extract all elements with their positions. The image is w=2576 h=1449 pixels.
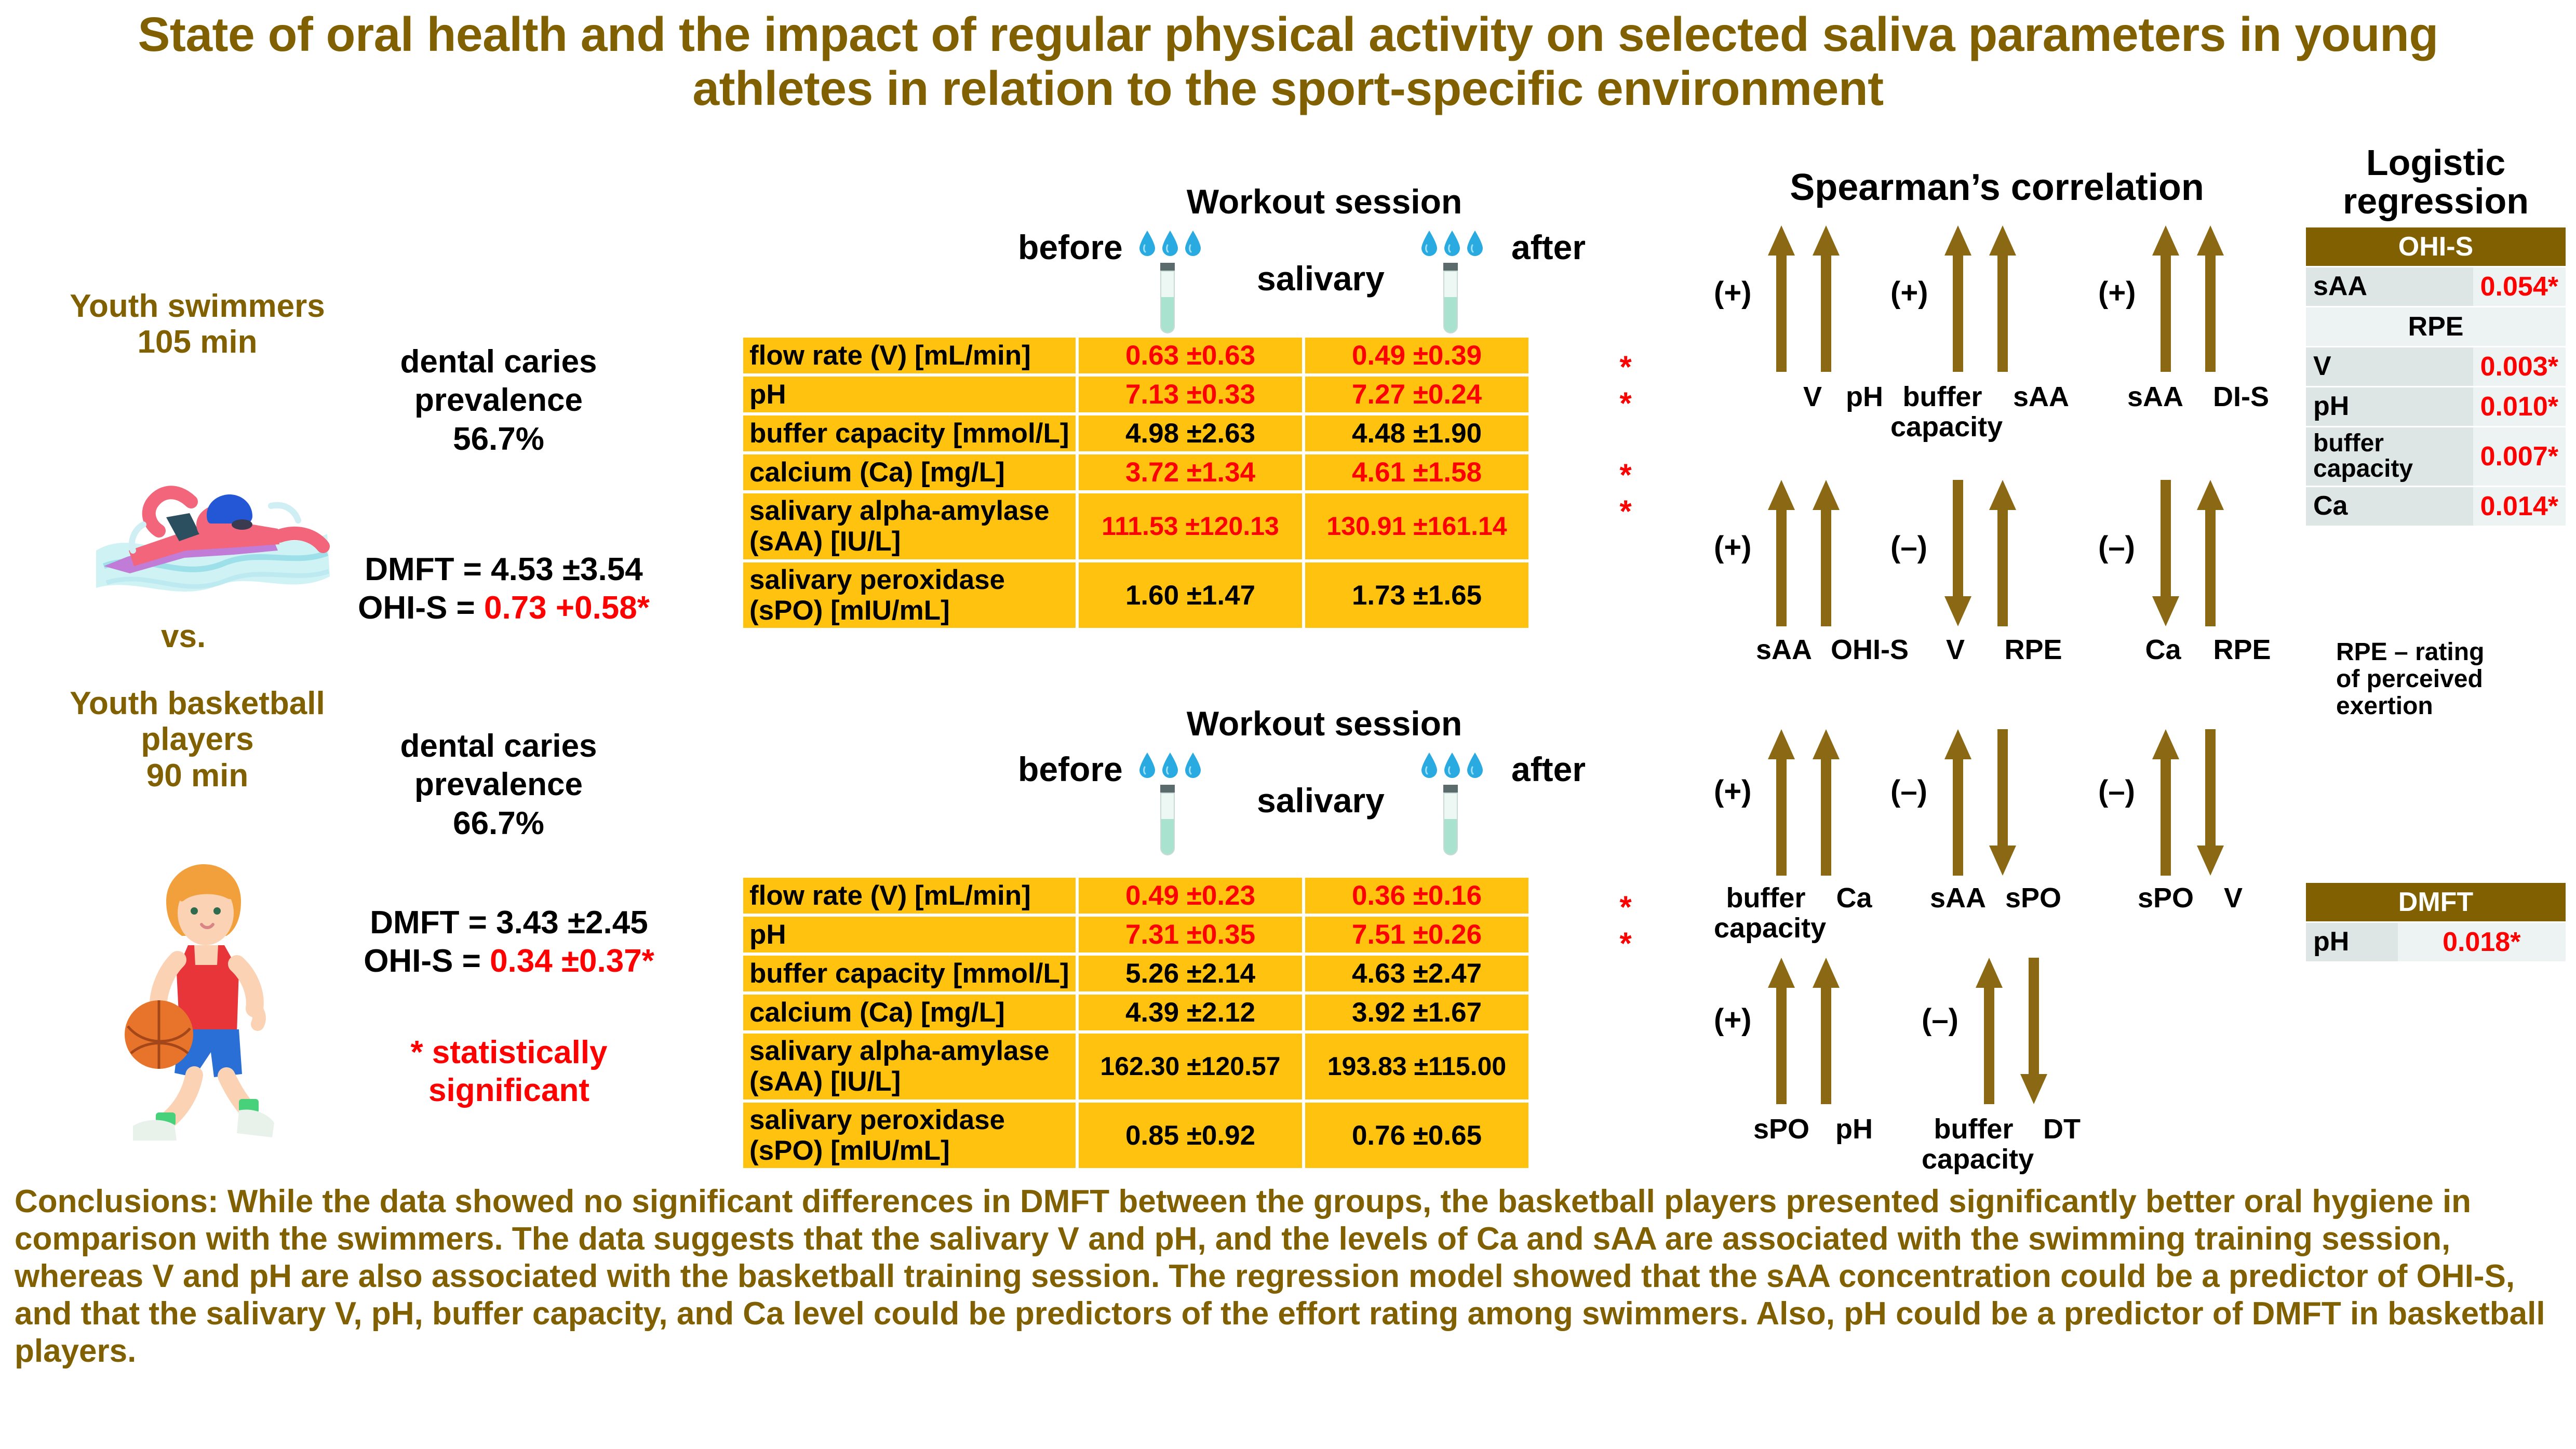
arrow-down-icon bbox=[2150, 478, 2181, 628]
significance-star: * bbox=[1610, 925, 1641, 961]
correlation-sign: (+) bbox=[1714, 530, 1752, 565]
correlation-sign: (–) bbox=[1890, 774, 1927, 809]
table-row: pH 7.13 ±0.33 7.27 ±0.24 bbox=[743, 377, 1528, 412]
logreg-dmft-header: DMFT bbox=[2306, 883, 2566, 922]
significance-legend-line2: significant bbox=[343, 1071, 675, 1109]
correlation-arrows bbox=[1766, 956, 1842, 1106]
cell-parameter: salivary alpha-amylase (sAA) [IU/L] bbox=[743, 1034, 1076, 1099]
cell-after: 4.48 ±1.90 bbox=[1305, 415, 1528, 451]
correlation-label-right: OHI-S bbox=[1815, 635, 1924, 665]
correlation-label-right: sPO bbox=[1989, 883, 2077, 913]
saliva-table-swimmers: flow rate (V) [mL/min] 0.63 ±0.63 0.49 ±… bbox=[740, 334, 1532, 631]
cell-pvalue: 0.010* bbox=[2473, 387, 2566, 427]
water-drop-icon bbox=[1161, 230, 1179, 257]
swimmers-dmft: DMFT = 4.53 ±3.54 bbox=[312, 551, 696, 589]
caries-prevalence-value: 56.7% bbox=[332, 420, 665, 459]
cell-parameter: pH bbox=[743, 917, 1076, 952]
table-row: V 0.003* bbox=[2306, 347, 2566, 387]
logreg-title-line2: regression bbox=[2306, 182, 2566, 220]
cell-after: 130.91 ±161.14 bbox=[1305, 493, 1528, 559]
caries-label-line2: prevalence bbox=[332, 381, 665, 420]
caries-label-line1: dental caries bbox=[332, 727, 665, 766]
rpe-note-line2: of perceived bbox=[2336, 666, 2565, 693]
water-drop-icon bbox=[1420, 230, 1438, 257]
water-drops-before-swimmers bbox=[1138, 230, 1202, 257]
table-row: Ca 0.014* bbox=[2306, 486, 2566, 526]
correlation-arrows bbox=[1942, 727, 2018, 878]
table-row: salivary alpha-amylase (sAA) [IU/L] 111.… bbox=[743, 493, 1528, 559]
arrow-down-icon bbox=[1987, 727, 2018, 878]
cell-before: 1.60 ±1.47 bbox=[1079, 562, 1302, 628]
saliva-table-basketball-body: flow rate (V) [mL/min] 0.49 ±0.23 0.36 ±… bbox=[743, 878, 1528, 1168]
cell-before: 0.85 ±0.92 bbox=[1079, 1103, 1302, 1169]
water-drop-icon bbox=[1138, 752, 1156, 779]
cell-predictor: sAA bbox=[2306, 267, 2473, 307]
cell-predictor: V bbox=[2306, 347, 2473, 387]
correlation-label-right: RPE bbox=[1984, 635, 2083, 665]
correlation-label-right: pH bbox=[1815, 1114, 1893, 1144]
cell-parameter: buffer capacity [mmol/L] bbox=[743, 415, 1076, 451]
table-header-row: OHI-S bbox=[2306, 227, 2566, 267]
correlation-label-left: sPO bbox=[1737, 1114, 1826, 1144]
arrow-up-icon bbox=[2150, 223, 2181, 374]
cell-pvalue: 0.018* bbox=[2398, 922, 2566, 962]
cell-after: 0.49 ±0.39 bbox=[1305, 338, 1528, 373]
arrow-up-icon bbox=[1766, 727, 1797, 878]
salivary-label-basketball: salivary bbox=[1257, 781, 1385, 820]
arrow-up-icon bbox=[1810, 956, 1842, 1106]
logreg-title-line1: Logistic bbox=[2306, 143, 2566, 182]
cell-before: 4.98 ±2.63 bbox=[1079, 415, 1302, 451]
correlation-label-left: V bbox=[1924, 635, 1987, 665]
water-drops-after-swimmers bbox=[1420, 230, 1484, 257]
cell-before: 7.31 ±0.35 bbox=[1079, 917, 1302, 952]
cell-before: 5.26 ±2.14 bbox=[1079, 956, 1302, 991]
workout-after-label-basketball: after bbox=[1511, 749, 1586, 789]
cell-before: 0.63 ±0.63 bbox=[1079, 338, 1302, 373]
basketball-caries-stats: dental caries prevalence 66.7% bbox=[332, 727, 665, 843]
workout-before-label-basketball: before bbox=[1018, 749, 1123, 789]
table-row: salivary peroxidase (sPO) [mIU/mL] 0.85 … bbox=[743, 1103, 1528, 1169]
cell-before: 7.13 ±0.33 bbox=[1079, 377, 1302, 412]
correlation-label-right: RPE bbox=[2193, 635, 2291, 665]
arrow-up-icon bbox=[1942, 223, 1974, 374]
cell-before: 162.30 ±120.57 bbox=[1079, 1034, 1302, 1099]
table-subheader-row: RPE bbox=[2306, 307, 2566, 347]
basketball-dmft: DMFT = 3.43 ±2.45 bbox=[312, 904, 706, 942]
table-row: buffer capacity [mmol/L] 5.26 ±2.14 4.63… bbox=[743, 956, 1528, 991]
correlation-arrows bbox=[1766, 727, 1842, 878]
cell-after: 7.27 ±0.24 bbox=[1305, 377, 1528, 412]
cell-parameter: pH bbox=[743, 377, 1076, 412]
correlation-arrows bbox=[1766, 478, 1842, 628]
significance-legend-line1: * statistically bbox=[343, 1034, 675, 1071]
arrow-up-icon bbox=[1766, 956, 1797, 1106]
table-row: pH 0.010* bbox=[2306, 387, 2566, 427]
cell-parameter: salivary peroxidase (sPO) [mIU/mL] bbox=[743, 562, 1076, 628]
correlation-sign: (+) bbox=[1714, 275, 1752, 310]
arrow-down-icon bbox=[1942, 478, 1974, 628]
page-title: State of oral health and the impact of r… bbox=[93, 7, 2483, 115]
swimmers-ohis: OHI-S = 0.73 +0.58* bbox=[312, 589, 696, 627]
correlation-sign: (+) bbox=[1890, 275, 1928, 310]
table-header-row: DMFT bbox=[2306, 883, 2566, 922]
workout-session-title-swimmers: Workout session bbox=[1143, 182, 1506, 221]
logistic-regression-table-dmft: DMFT pH 0.018* bbox=[2306, 883, 2566, 963]
group-name-swimmers: Youth swimmers bbox=[16, 288, 379, 324]
cell-before: 3.72 ±1.34 bbox=[1079, 454, 1302, 490]
saliva-table-swimmers-body: flow rate (V) [mL/min] 0.63 ±0.63 0.49 ±… bbox=[743, 338, 1528, 628]
water-drop-icon bbox=[1161, 752, 1179, 779]
swimmers-ohis-value: 0.73 +0.58* bbox=[484, 590, 650, 626]
correlation-label-left: buffer capacity bbox=[1890, 382, 1994, 442]
cell-pvalue: 0.014* bbox=[2473, 486, 2566, 526]
correlation-arrows bbox=[2150, 727, 2226, 878]
workout-after-label-swimmers: after bbox=[1511, 227, 1586, 267]
table-row: buffer capacity [mmol/L] 4.98 ±2.63 4.48… bbox=[743, 415, 1528, 451]
cell-after: 4.63 ±2.47 bbox=[1305, 956, 1528, 991]
saliva-tube-icon-after-swimmers bbox=[1439, 263, 1463, 340]
cell-parameter: flow rate (V) [mL/min] bbox=[743, 878, 1076, 914]
group-duration-basketball: 90 min bbox=[10, 758, 384, 794]
caries-prevalence-value: 66.7% bbox=[332, 804, 665, 843]
correlation-label-left: sAA bbox=[1742, 635, 1826, 665]
correlation-sign: (+) bbox=[2098, 275, 2136, 310]
table-row: salivary peroxidase (sPO) [mIU/mL] 1.60 … bbox=[743, 562, 1528, 628]
graphical-abstract-page: State of oral health and the impact of r… bbox=[0, 0, 2576, 1449]
cell-predictor: pH bbox=[2306, 387, 2473, 427]
salivary-label-swimmers: salivary bbox=[1257, 259, 1385, 298]
basketball-ohis-prefix: OHI-S = bbox=[364, 943, 490, 979]
correlation-label-left: Ca bbox=[2129, 635, 2197, 665]
arrow-up-icon bbox=[2195, 478, 2226, 628]
spearman-title: Spearman’s correlation bbox=[1729, 166, 2264, 209]
water-drops-before-basketball bbox=[1138, 752, 1202, 779]
correlation-label-left: buffer capacity bbox=[1922, 1114, 2025, 1175]
water-drop-icon bbox=[1466, 752, 1484, 779]
basketball-ohis: OHI-S = 0.34 ±0.37* bbox=[312, 942, 706, 981]
cell-before: 111.53 ±120.13 bbox=[1079, 493, 1302, 559]
significance-star: * bbox=[1610, 889, 1641, 925]
significance-legend: * statistically significant bbox=[343, 1034, 675, 1109]
table-row: flow rate (V) [mL/min] 0.49 ±0.23 0.36 ±… bbox=[743, 878, 1528, 914]
arrow-up-icon bbox=[1987, 478, 2018, 628]
correlation-label-left: sAA bbox=[2109, 382, 2202, 412]
cell-pvalue: 0.054* bbox=[2473, 267, 2566, 307]
basketball-index-stats: DMFT = 3.43 ±2.45 OHI-S = 0.34 ±0.37* bbox=[312, 904, 706, 981]
water-drop-icon bbox=[1184, 752, 1202, 779]
rpe-abbreviation-note: RPE – rating of perceived exertion bbox=[2336, 639, 2565, 719]
group-label-basketball: Youth basketball players 90 min bbox=[10, 686, 384, 794]
caries-label-line2: prevalence bbox=[332, 766, 665, 804]
swimmers-caries-stats: dental caries prevalence 56.7% bbox=[332, 343, 665, 459]
water-drop-icon bbox=[1443, 752, 1461, 779]
vs-label: vs. bbox=[161, 618, 206, 655]
arrow-up-icon bbox=[1987, 223, 2018, 374]
cell-parameter: calcium (Ca) [mg/L] bbox=[743, 995, 1076, 1030]
water-drop-icon bbox=[1184, 230, 1202, 257]
correlation-label-left: sAA bbox=[1916, 883, 2000, 913]
correlation-sign: (–) bbox=[2098, 774, 2135, 809]
swimmer-illustration bbox=[68, 395, 348, 613]
table-row: calcium (Ca) [mg/L] 4.39 ±2.12 3.92 ±1.6… bbox=[743, 995, 1528, 1030]
saliva-tube-icon-before-basketball bbox=[1156, 785, 1179, 862]
correlation-label-right: DI-S bbox=[2194, 382, 2288, 412]
group-name-basketball-line1: Youth basketball bbox=[10, 686, 384, 721]
arrow-up-icon bbox=[1810, 478, 1842, 628]
saliva-tube-icon-before-swimmers bbox=[1156, 263, 1179, 340]
cell-predictor: buffer capacity bbox=[2306, 427, 2473, 487]
group-duration-swimmers: 105 min bbox=[16, 324, 379, 360]
cell-before: 4.39 ±2.12 bbox=[1079, 995, 1302, 1030]
cell-parameter: salivary peroxidase (sPO) [mIU/mL] bbox=[743, 1103, 1076, 1169]
significance-star: * bbox=[1610, 493, 1641, 529]
logistic-regression-title: Logistic regression bbox=[2306, 143, 2566, 220]
correlation-arrows bbox=[1974, 956, 2049, 1106]
rpe-note-line3: exertion bbox=[2336, 693, 2565, 720]
table-row: pH 0.018* bbox=[2306, 922, 2566, 962]
cell-parameter: calcium (Ca) [mg/L] bbox=[743, 454, 1076, 490]
cell-pvalue: 0.007* bbox=[2473, 427, 2566, 487]
arrow-down-icon bbox=[2018, 956, 2049, 1106]
water-drop-icon bbox=[1466, 230, 1484, 257]
correlation-arrows bbox=[1942, 223, 2018, 374]
swimmers-index-stats: DMFT = 4.53 ±3.54 OHI-S = 0.73 +0.58* bbox=[312, 551, 696, 628]
saliva-table-basketball: flow rate (V) [mL/min] 0.49 ±0.23 0.36 ±… bbox=[740, 875, 1532, 1171]
group-name-basketball-line2: players bbox=[10, 721, 384, 757]
rpe-note-line1: RPE – rating bbox=[2336, 639, 2565, 666]
table-row: sAA 0.054* bbox=[2306, 267, 2566, 307]
saliva-tube-icon-after-basketball bbox=[1439, 785, 1463, 862]
arrow-up-icon bbox=[1974, 956, 2005, 1106]
water-drops-after-basketball bbox=[1420, 752, 1484, 779]
correlation-arrows bbox=[2150, 478, 2226, 628]
group-label-swimmers: Youth swimmers 105 min bbox=[16, 288, 379, 360]
table-row: salivary alpha-amylase (sAA) [IU/L] 162.… bbox=[743, 1034, 1528, 1099]
correlation-sign: (+) bbox=[1714, 1002, 1752, 1037]
correlation-sign: (+) bbox=[1714, 774, 1752, 809]
correlation-arrows bbox=[2150, 223, 2226, 374]
cell-parameter: flow rate (V) [mL/min] bbox=[743, 338, 1076, 373]
water-drop-icon bbox=[1138, 230, 1156, 257]
water-drop-icon bbox=[1420, 752, 1438, 779]
table-row: flow rate (V) [mL/min] 0.63 ±0.63 0.49 ±… bbox=[743, 338, 1528, 373]
correlation-label-left: buffer capacity bbox=[1714, 883, 1818, 944]
caries-label-line1: dental caries bbox=[332, 343, 665, 381]
significance-star: * bbox=[1610, 385, 1641, 421]
significance-star: * bbox=[1610, 457, 1641, 493]
arrow-up-icon bbox=[1766, 223, 1797, 374]
correlation-arrows bbox=[1942, 478, 2018, 628]
cell-after: 3.92 ±1.67 bbox=[1305, 995, 1528, 1030]
cell-after: 193.83 ±115.00 bbox=[1305, 1034, 1528, 1099]
cell-pvalue: 0.003* bbox=[2473, 347, 2566, 387]
correlation-label-right: V bbox=[2202, 883, 2264, 913]
correlation-sign: (–) bbox=[2098, 530, 2135, 565]
logreg-subheader-rpe: RPE bbox=[2306, 307, 2566, 347]
cell-after: 0.76 ±0.65 bbox=[1305, 1103, 1528, 1169]
cell-after: 0.36 ±0.16 bbox=[1305, 878, 1528, 914]
correlation-label-right: Ca bbox=[1818, 883, 1890, 913]
correlation-sign: (–) bbox=[1922, 1002, 1958, 1037]
correlation-sign: (–) bbox=[1890, 530, 1927, 565]
cell-predictor: pH bbox=[2306, 922, 2398, 962]
arrow-up-icon bbox=[2150, 727, 2181, 878]
arrow-up-icon bbox=[2195, 223, 2226, 374]
cell-parameter: buffer capacity [mmol/L] bbox=[743, 956, 1076, 991]
cell-before: 0.49 ±0.23 bbox=[1079, 878, 1302, 914]
water-drop-icon bbox=[1443, 230, 1461, 257]
cell-after: 4.61 ±1.58 bbox=[1305, 454, 1528, 490]
conclusions-text: Conclusions: While the data showed no si… bbox=[15, 1183, 2559, 1370]
cell-parameter: salivary alpha-amylase (sAA) [IU/L] bbox=[743, 493, 1076, 559]
basketball-player-illustration bbox=[83, 847, 332, 1158]
table-row: pH 7.31 ±0.35 7.51 ±0.26 bbox=[743, 917, 1528, 952]
arrow-up-icon bbox=[1810, 223, 1842, 374]
basketball-ohis-value: 0.34 ±0.37* bbox=[490, 943, 654, 979]
table-row: buffer capacity 0.007* bbox=[2306, 427, 2566, 487]
arrow-up-icon bbox=[1766, 478, 1797, 628]
cell-predictor: Ca bbox=[2306, 486, 2473, 526]
correlation-label-left: sPO bbox=[2122, 883, 2210, 913]
correlation-arrows bbox=[1766, 223, 1842, 374]
logreg-dmft-body: DMFT pH 0.018* bbox=[2306, 883, 2566, 962]
logreg-ohis-header: OHI-S bbox=[2306, 227, 2566, 267]
swimmers-ohis-prefix: OHI-S = bbox=[358, 590, 484, 626]
significance-star: * bbox=[1610, 349, 1641, 385]
correlation-label-right: DT bbox=[2025, 1114, 2098, 1144]
arrow-down-icon bbox=[2195, 727, 2226, 878]
workout-before-label-swimmers: before bbox=[1018, 227, 1123, 267]
cell-after: 1.73 ±1.65 bbox=[1305, 562, 1528, 628]
workout-session-title-basketball: Workout session bbox=[1143, 704, 1506, 743]
cell-after: 7.51 ±0.26 bbox=[1305, 917, 1528, 952]
table-row: calcium (Ca) [mg/L] 3.72 ±1.34 4.61 ±1.5… bbox=[743, 454, 1528, 490]
arrow-up-icon bbox=[1942, 727, 1974, 878]
logreg-ohis-body: OHI-S sAA 0.054* RPE V 0.003* pH 0.010* … bbox=[2306, 227, 2566, 526]
correlation-label-right: sAA bbox=[1994, 382, 2088, 412]
logistic-regression-table-ohis: OHI-S sAA 0.054* RPE V 0.003* pH 0.010* … bbox=[2306, 227, 2566, 527]
arrow-up-icon bbox=[1810, 727, 1842, 878]
